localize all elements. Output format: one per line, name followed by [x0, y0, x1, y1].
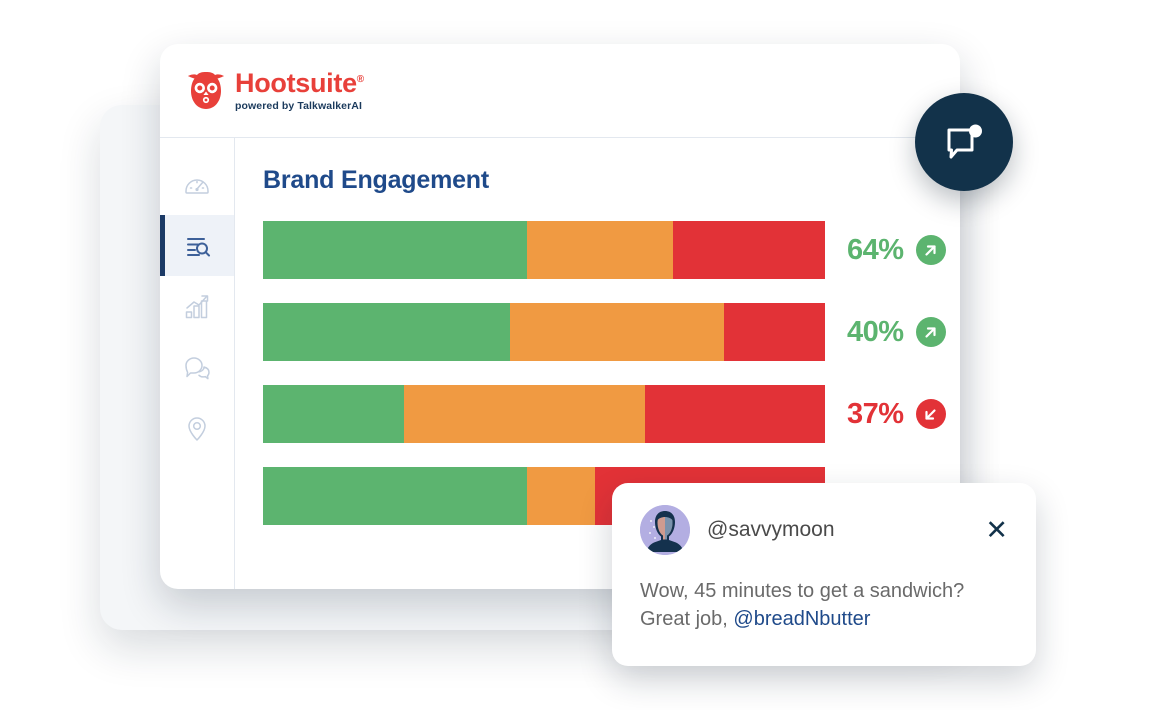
bar-segment-neutral — [510, 303, 724, 361]
sidebar-item-analytics[interactable] — [160, 276, 234, 337]
bar-segment-positive — [263, 221, 527, 279]
bar-segment-neutral — [527, 221, 673, 279]
owl-icon — [186, 72, 226, 110]
page-title: Brand Engagement — [263, 166, 960, 195]
screenshot-stage: Hootsuite® powered by TalkwalkerAI — [0, 0, 1160, 710]
bar-row: 40% — [263, 303, 960, 361]
arrow-up-right-icon — [916, 317, 946, 347]
avatar — [640, 505, 690, 555]
sidebar-rail — [160, 138, 235, 589]
bar-percent: 64% — [847, 234, 904, 267]
location-pin-icon — [182, 414, 212, 444]
gauge-dashboard-icon — [182, 170, 212, 200]
bar-row: 64% — [263, 221, 960, 279]
stacked-bar[interactable] — [263, 303, 825, 361]
registered-mark: ® — [357, 74, 364, 85]
stacked-bar[interactable] — [263, 221, 825, 279]
bar-segment-negative — [645, 385, 825, 443]
app-header: Hootsuite® powered by TalkwalkerAI — [160, 44, 960, 138]
user-avatar-icon — [640, 505, 690, 555]
close-icon[interactable]: ✕ — [983, 517, 1010, 544]
bar-chart-trend-icon — [182, 292, 212, 322]
mention-card-header: @savvymoon ✕ — [640, 505, 1010, 555]
bar-segment-neutral — [404, 385, 646, 443]
bar-segment-negative — [673, 221, 825, 279]
mention-text: Wow, 45 minutes to get a sandwich? Great… — [640, 577, 1010, 634]
mention-card: @savvymoon ✕ Wow, 45 minutes to get a sa… — [612, 483, 1036, 666]
bar-meta: 64% — [847, 234, 946, 267]
brand-logo[interactable]: Hootsuite® powered by TalkwalkerAI — [186, 70, 364, 112]
bar-row: 37% — [263, 385, 960, 443]
list-search-icon — [182, 231, 212, 261]
bar-percent: 40% — [847, 316, 904, 349]
chat-notification-icon — [941, 119, 987, 165]
brand-tagline: powered by TalkwalkerAI — [235, 101, 364, 112]
arrow-down-left-icon — [916, 399, 946, 429]
sidebar-item-search[interactable] — [160, 215, 234, 276]
bar-segment-neutral — [527, 467, 594, 525]
arrow-up-right-icon — [916, 235, 946, 265]
chat-notification-button[interactable] — [915, 93, 1013, 191]
bar-meta: 40% — [847, 316, 946, 349]
bar-segment-positive — [263, 303, 510, 361]
brand-name: Hootsuite® — [235, 70, 364, 97]
bar-segment-negative — [724, 303, 825, 361]
sidebar-item-locations[interactable] — [160, 398, 234, 459]
bar-percent: 37% — [847, 398, 904, 431]
sidebar-item-dashboard[interactable] — [160, 154, 234, 215]
sidebar-item-messages[interactable] — [160, 337, 234, 398]
mention-link[interactable]: @breadNbutter — [733, 608, 870, 630]
bar-segment-positive — [263, 385, 404, 443]
mention-handle[interactable]: @savvymoon — [707, 518, 983, 542]
stacked-bar[interactable] — [263, 385, 825, 443]
chat-bubbles-icon — [182, 353, 212, 383]
bar-segment-positive — [263, 467, 527, 525]
bar-meta: 37% — [847, 398, 946, 431]
